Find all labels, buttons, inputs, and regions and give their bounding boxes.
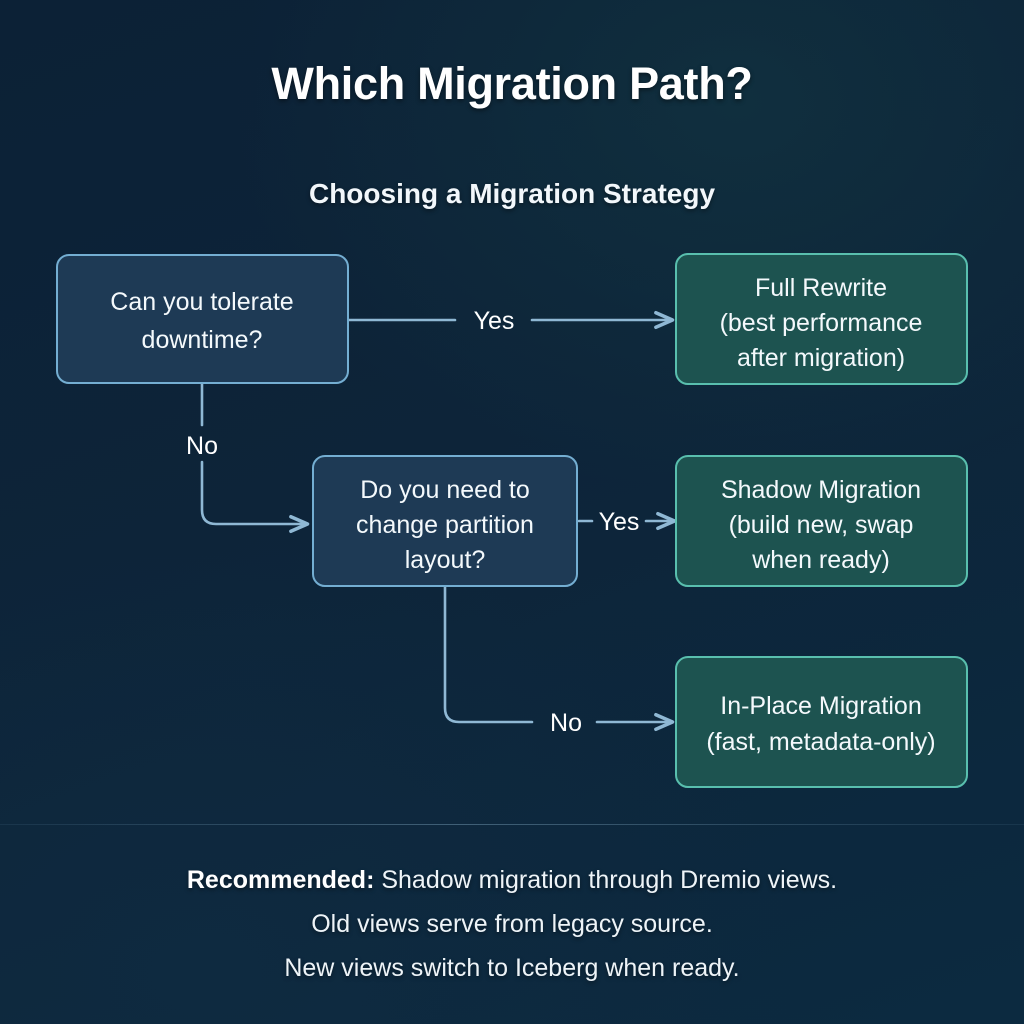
node-outcome-full-rewrite[interactable]: Full Rewrite (best performance after mig… bbox=[676, 254, 967, 384]
node-decision-downtime-line-2: downtime? bbox=[142, 326, 263, 354]
edge-downtime-no-segment-bottom bbox=[202, 462, 307, 524]
recommendation-line-1: Recommended: Shadow migration through Dr… bbox=[0, 858, 1024, 902]
node-decision-downtime-box[interactable] bbox=[57, 255, 348, 383]
node-outcome-full-rewrite-line-3: after migration) bbox=[737, 344, 905, 372]
node-decision-downtime-line-1: Can you tolerate bbox=[110, 288, 293, 316]
node-outcome-in-place-migration-line-1: In-Place Migration bbox=[720, 692, 921, 720]
node-decision-partition[interactable]: Do you need to change partition layout? bbox=[313, 456, 577, 586]
infographic-canvas: Which Migration Path? Choosing a Migrati… bbox=[0, 0, 1024, 1024]
node-outcome-full-rewrite-line-2: (best performance bbox=[720, 309, 923, 337]
edge-downtime-yes: Yes bbox=[348, 307, 672, 335]
recommendation-footer: Recommended: Shadow migration through Dr… bbox=[0, 858, 1024, 990]
recommendation-line-2: Old views serve from legacy source. bbox=[0, 902, 1024, 946]
recommendation-lead: Recommended: bbox=[187, 866, 375, 894]
edge-partition-no-segment-left bbox=[445, 587, 532, 722]
node-decision-partition-line-3: layout? bbox=[405, 546, 486, 574]
edge-downtime-no: No bbox=[186, 383, 307, 524]
node-outcome-in-place-migration-box[interactable] bbox=[676, 657, 967, 787]
node-decision-partition-line-1: Do you need to bbox=[360, 476, 530, 504]
edge-label-partition-no: No bbox=[550, 709, 582, 737]
edge-label-partition-yes: Yes bbox=[599, 508, 640, 536]
node-outcome-shadow-migration[interactable]: Shadow Migration (build new, swap when r… bbox=[676, 456, 967, 586]
node-outcome-in-place-migration-line-2: (fast, metadata-only) bbox=[706, 728, 935, 756]
edge-label-downtime-no: No bbox=[186, 432, 218, 460]
node-decision-downtime[interactable]: Can you tolerate downtime? bbox=[57, 255, 348, 383]
recommendation-line-3: New views switch to Iceberg when ready. bbox=[0, 946, 1024, 990]
node-outcome-in-place-migration[interactable]: In-Place Migration (fast, metadata-only) bbox=[676, 657, 967, 787]
edge-partition-yes: Yes bbox=[579, 508, 674, 536]
edge-partition-no: No bbox=[445, 587, 672, 737]
node-outcome-shadow-migration-line-2: (build new, swap bbox=[729, 511, 914, 539]
node-outcome-shadow-migration-line-3: when ready) bbox=[751, 546, 890, 574]
node-outcome-full-rewrite-line-1: Full Rewrite bbox=[755, 274, 887, 302]
node-outcome-shadow-migration-line-1: Shadow Migration bbox=[721, 476, 921, 504]
edge-label-downtime-yes: Yes bbox=[474, 307, 515, 335]
section-divider bbox=[0, 824, 1024, 825]
node-decision-partition-line-2: change partition bbox=[356, 511, 534, 539]
recommendation-line-1-rest: Shadow migration through Dremio views. bbox=[374, 866, 837, 894]
